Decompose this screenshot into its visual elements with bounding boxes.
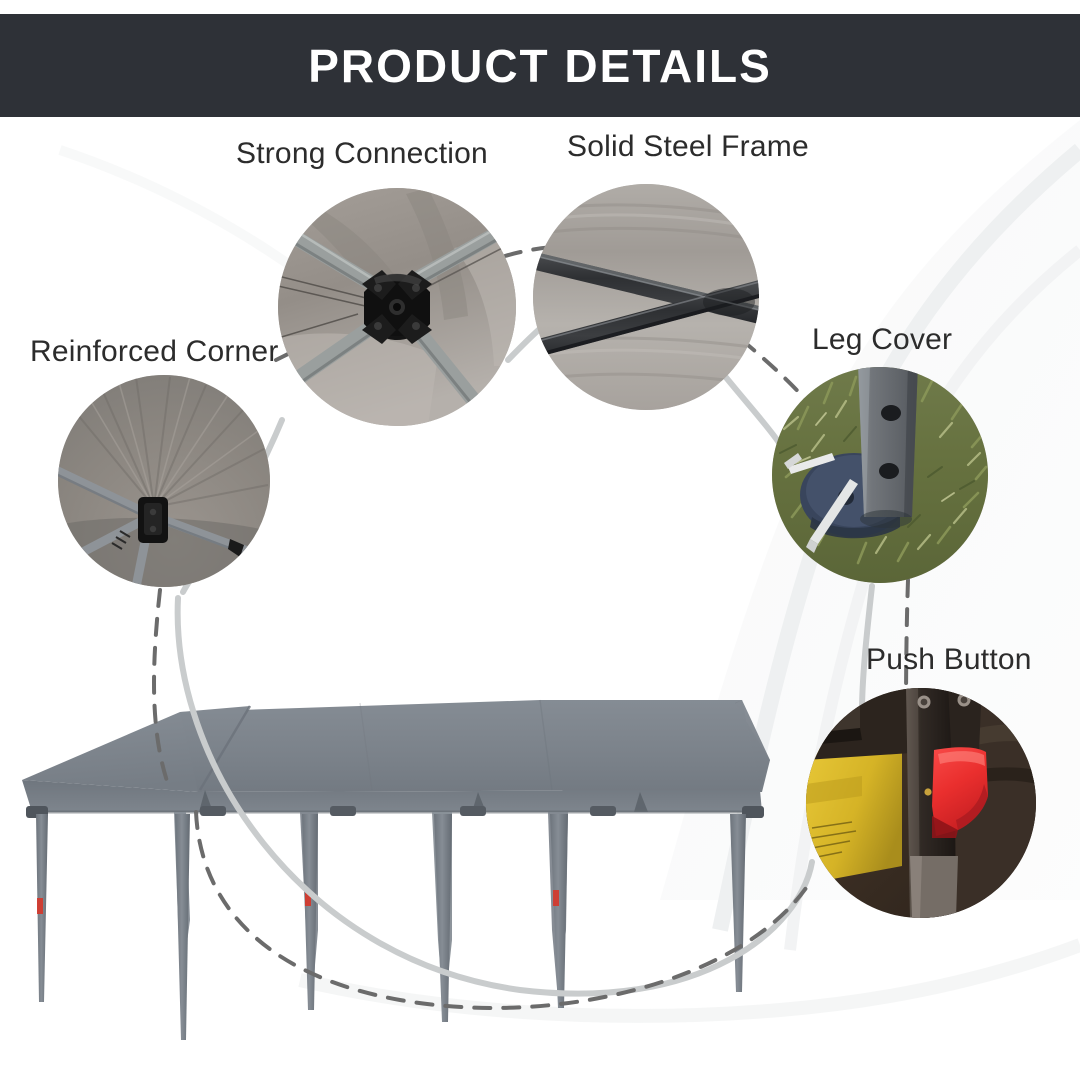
header-bar: PRODUCT DETAILS <box>0 14 1080 117</box>
product-details-infographic: Reinforced Corner Strong Connection Soli… <box>0 0 1080 1080</box>
callout-label-strong-connection: Strong Connection <box>236 139 488 169</box>
callout-label-reinforced-corner: Reinforced Corner <box>30 337 279 367</box>
page-title: PRODUCT DETAILS <box>308 43 772 89</box>
detail-circle-strong-connection[interactable] <box>278 188 516 426</box>
reinforced-corner-photo <box>58 375 270 587</box>
detail-circle-reinforced-corner[interactable] <box>58 375 270 587</box>
callout-label-solid-steel-frame: Solid Steel Frame <box>567 132 809 162</box>
detail-circle-leg-cover[interactable] <box>772 367 988 583</box>
callout-label-push-button: Push Button <box>866 645 1032 675</box>
leg-cover-photo <box>772 367 988 583</box>
callout-label-leg-cover: Leg Cover <box>812 325 952 355</box>
strong-connection-photo <box>278 188 516 426</box>
solid-steel-frame-photo <box>533 184 759 410</box>
push-button-photo <box>806 688 1036 918</box>
detail-circle-push-button[interactable] <box>806 688 1036 918</box>
detail-circle-solid-steel-frame[interactable] <box>533 184 759 410</box>
